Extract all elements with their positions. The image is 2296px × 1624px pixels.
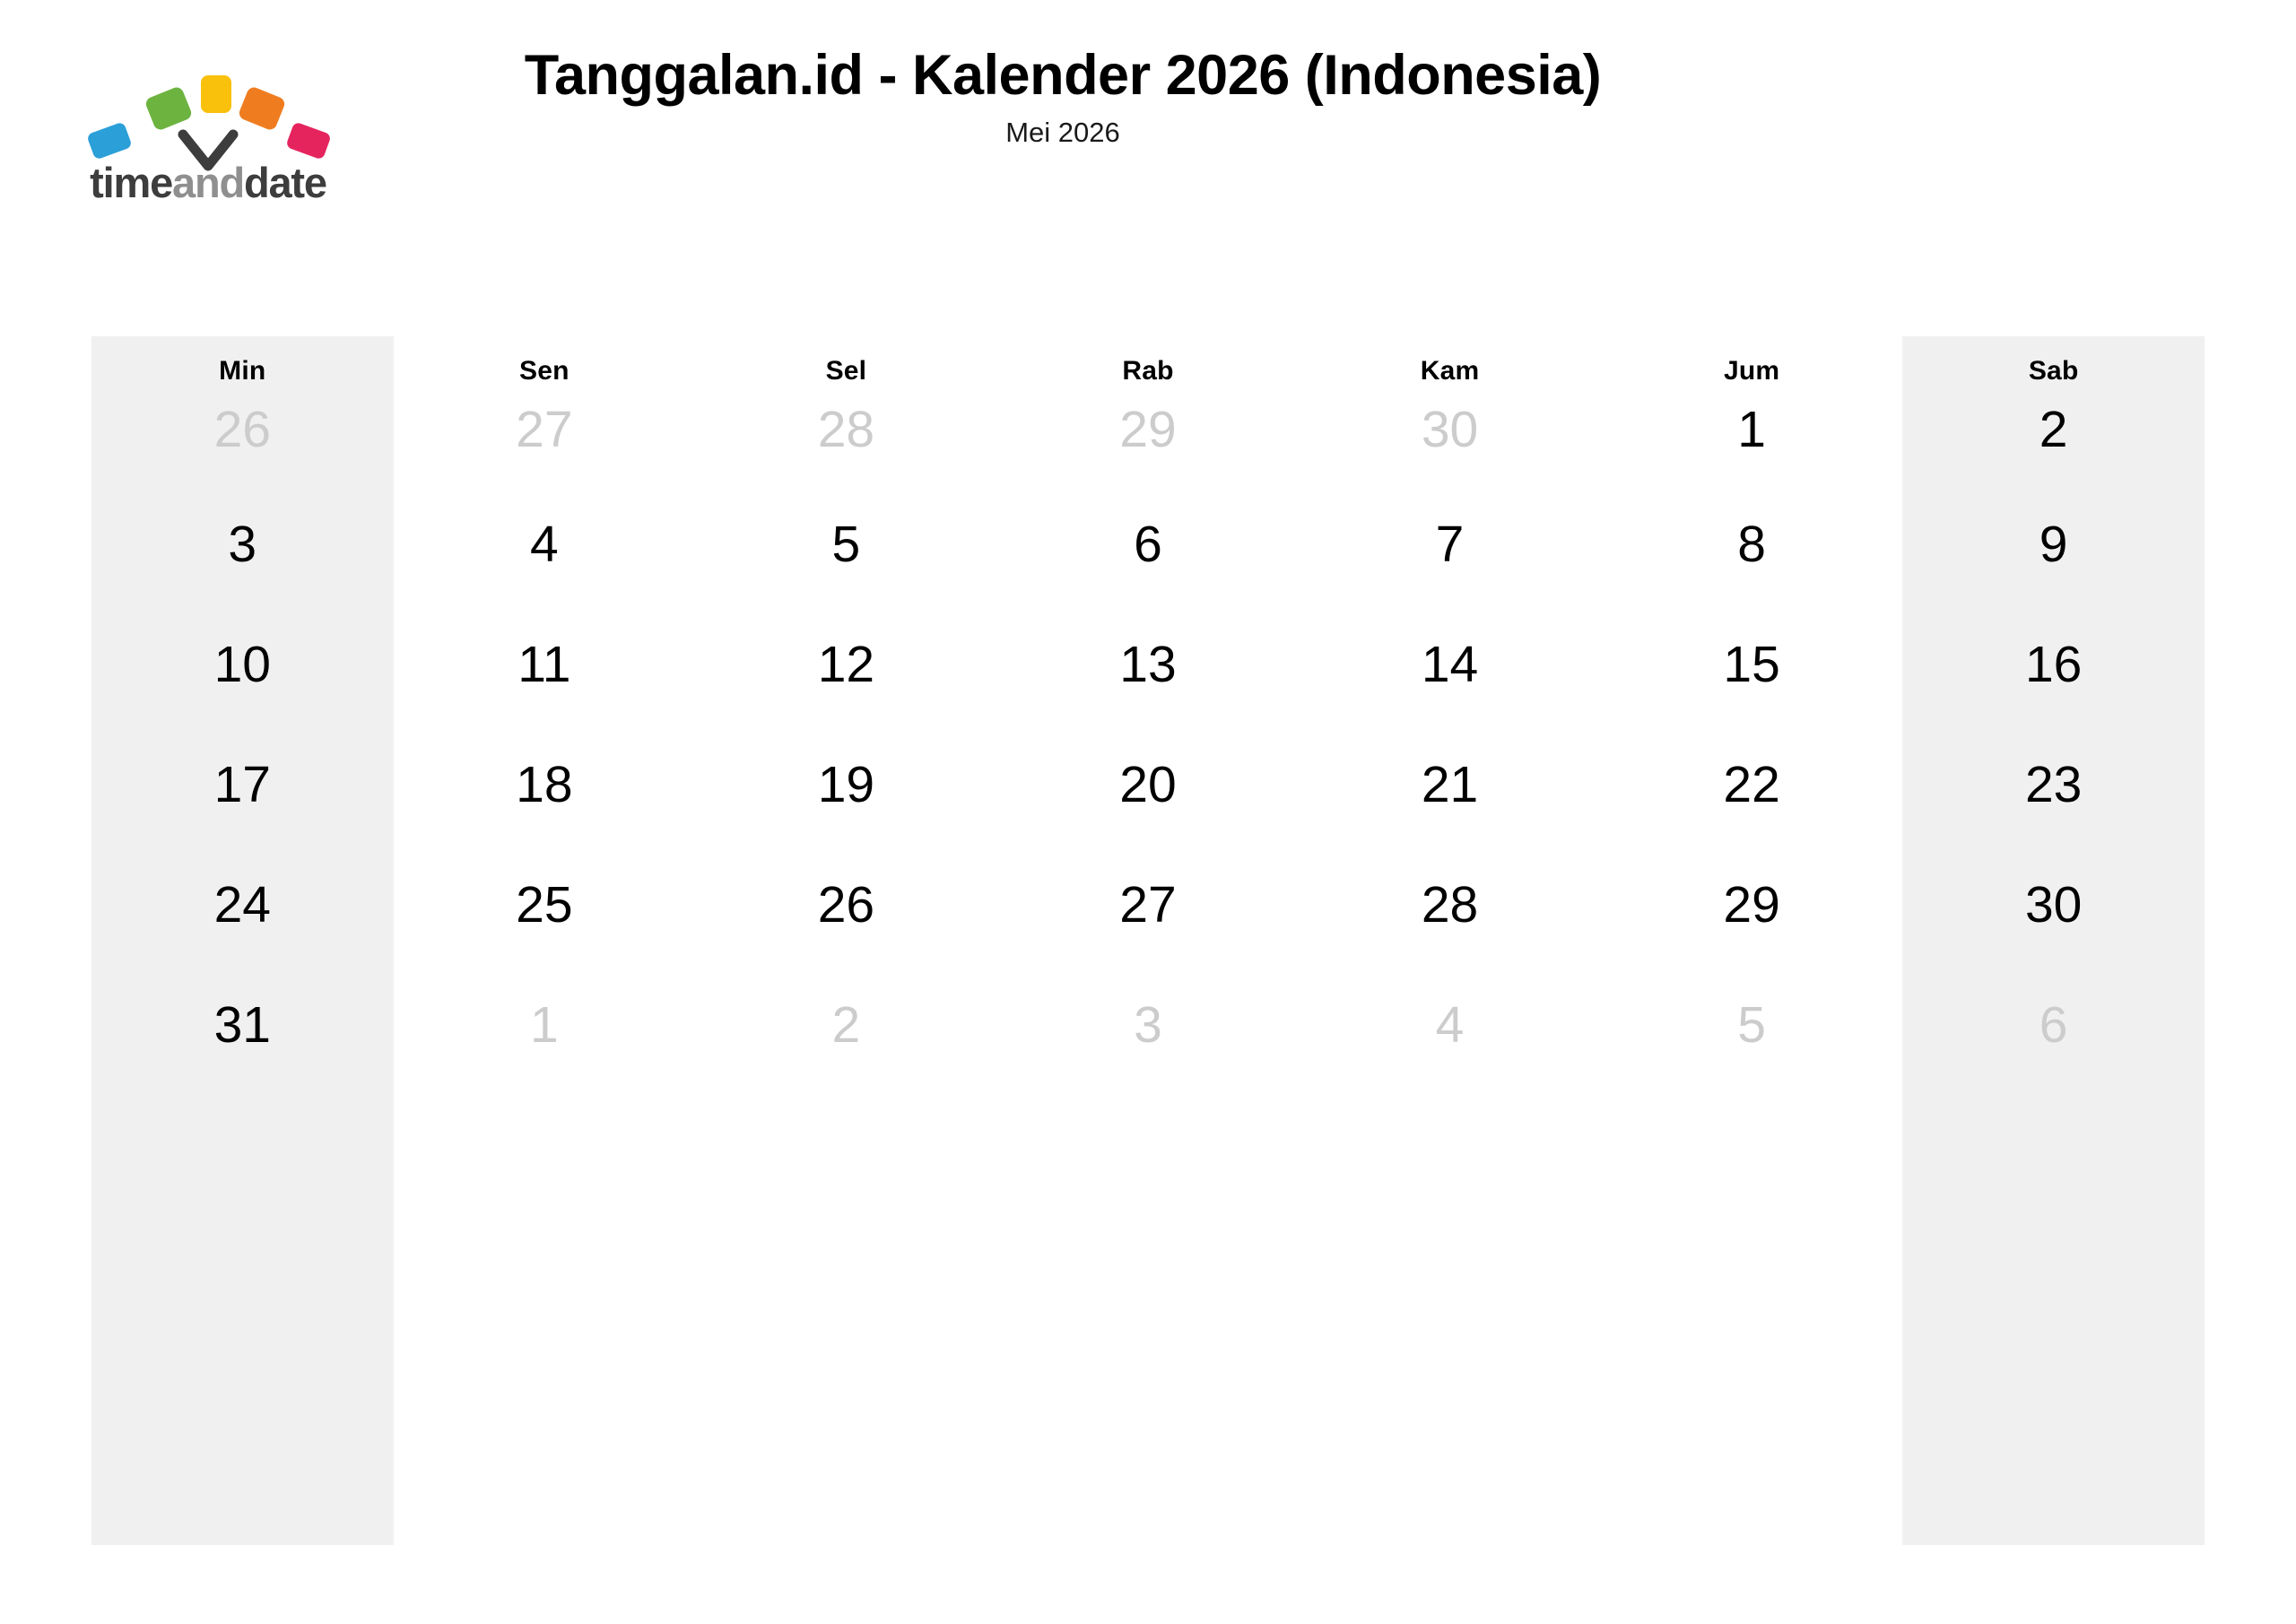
day-cell[interactable]: 28 [818,385,874,456]
weekday-label-kam: Kam [1421,336,1480,385]
day-cell[interactable]: 23 [1902,725,2205,845]
day-cell[interactable]: 2 [695,965,997,1085]
day-cell[interactable]: 11 [394,604,696,725]
day-cell[interactable]: 25 [394,845,696,965]
logo-word-and: and [172,159,244,206]
day-cell[interactable]: 5 [1601,965,1903,1085]
day-cell[interactable]: 18 [394,725,696,845]
day-cell[interactable]: 1 [394,965,696,1085]
day-cell[interactable]: 31 [91,965,394,1085]
calendar-header-cell-min: Min 26 [91,336,394,484]
day-cell[interactable]: 3 [91,484,394,604]
day-cell[interactable]: 19 [695,725,997,845]
page-title: Tanggalan.id - Kalender 2026 (Indonesia) [350,43,1776,108]
day-cell[interactable]: 6 [997,484,1300,604]
day-cell[interactable]: 26 [695,845,997,965]
day-cell[interactable]: 22 [1601,725,1903,845]
day-cell[interactable]: 8 [1601,484,1903,604]
day-cell[interactable]: 9 [1902,484,2205,604]
day-cell[interactable]: 3 [997,965,1300,1085]
day-cell[interactable]: 26 [214,385,271,456]
title-block: Tanggalan.id - Kalender 2026 (Indonesia)… [350,43,1776,149]
day-cell[interactable]: 16 [1902,604,2205,725]
day-cell[interactable]: 15 [1601,604,1903,725]
calendar-header-cell-kam: Kam 30 [1299,336,1601,484]
day-cell[interactable]: 1 [1737,385,1766,456]
day-cell[interactable]: 10 [91,604,394,725]
day-cell[interactable]: 29 [1119,385,1176,456]
day-cell[interactable]: 30 [1902,845,2205,965]
day-cell[interactable]: 4 [1299,965,1601,1085]
day-cell[interactable]: 30 [1422,385,1478,456]
calendar-header-cell-sen: Sen 27 [394,336,696,484]
day-cell[interactable]: 17 [91,725,394,845]
day-cell[interactable]: 7 [1299,484,1601,604]
day-cell[interactable]: 27 [516,385,572,456]
logo-arc-icon [65,47,352,172]
calendar-header-cell-jum: Jum 1 [1601,336,1903,484]
weekday-label-rab: Rab [1122,336,1173,385]
day-cell[interactable]: 2 [2039,385,2068,456]
calendar-page: timeanddate Tanggalan.id - Kalender 2026… [0,0,2296,1624]
logo-wordmark: timeanddate [65,158,352,207]
calendar-grid-container: Min 26 Sen 27 Sel 28 Rab 29 Kam 30 Jum 1 [91,336,2205,1545]
logo-word-time: time [90,159,172,206]
weekday-label-sab: Sab [2029,336,2079,385]
weekday-label-sel: Sel [826,336,867,385]
day-cell[interactable]: 27 [997,845,1300,965]
day-cell[interactable]: 13 [997,604,1300,725]
logo-word-date: date [244,159,326,206]
day-cell[interactable]: 14 [1299,604,1601,725]
weekday-label-min: Min [219,336,265,385]
day-cell[interactable]: 20 [997,725,1300,845]
calendar-header-cell-rab: Rab 29 [997,336,1300,484]
timeanddate-logo[interactable]: timeanddate [65,47,352,226]
day-cell[interactable]: 4 [394,484,696,604]
weekday-label-sen: Sen [519,336,570,385]
page-subtitle: Mei 2026 [350,117,1776,149]
day-cell[interactable]: 21 [1299,725,1601,845]
day-cell[interactable]: 5 [695,484,997,604]
weekday-label-jum: Jum [1724,336,1779,385]
day-cell[interactable]: 24 [91,845,394,965]
calendar-header-cell-sel: Sel 28 [695,336,997,484]
day-cell[interactable]: 28 [1299,845,1601,965]
page-header: timeanddate Tanggalan.id - Kalender 2026… [0,0,2296,336]
calendar-grid: Min 26 Sen 27 Sel 28 Rab 29 Kam 30 Jum 1 [91,336,2205,1085]
day-cell[interactable]: 12 [695,604,997,725]
day-cell[interactable]: 6 [1902,965,2205,1085]
day-cell[interactable]: 29 [1601,845,1903,965]
calendar-header-cell-sab: Sab 2 [1902,336,2205,484]
